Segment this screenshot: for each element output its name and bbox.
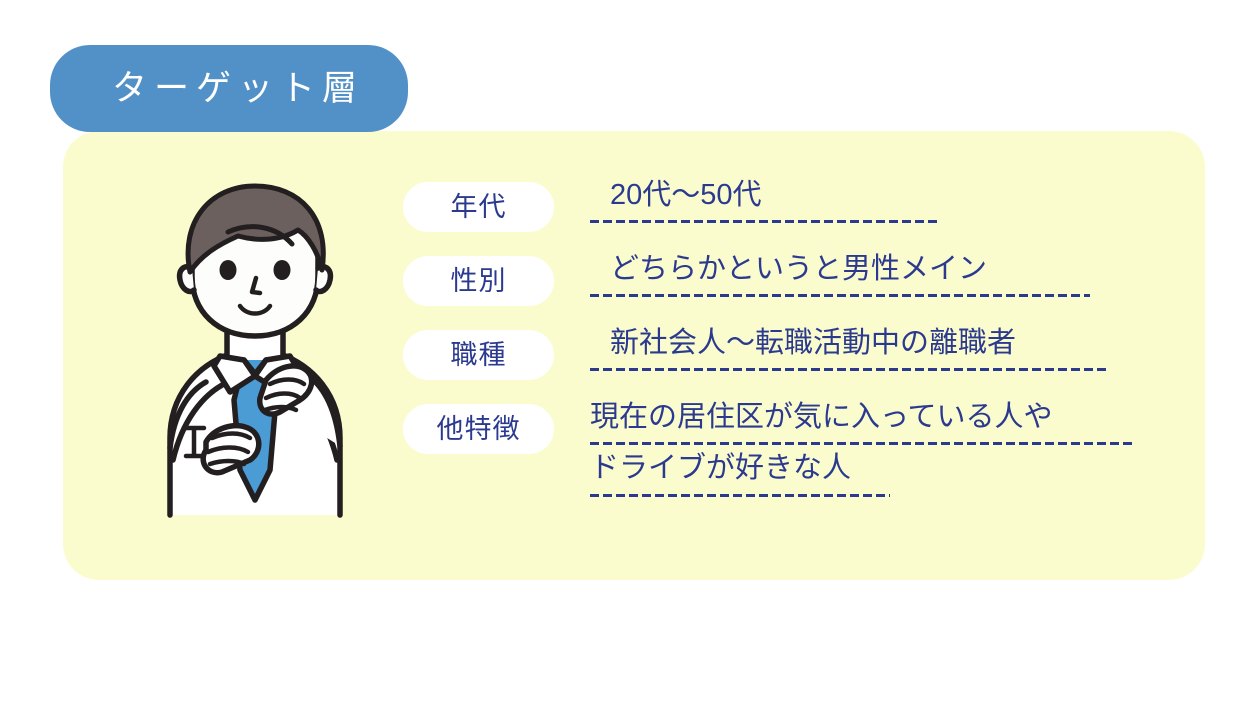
dashed-underline [590, 294, 1090, 297]
value-line: 20代〜50代 [590, 176, 1165, 223]
value-line: ドライブが好きな人 [590, 449, 1165, 496]
value-line: 現在の居住区が気に入っている人や [590, 398, 1165, 445]
value-text: ドライブが好きな人 [590, 449, 851, 487]
section-header-badge: ターゲット層 [50, 45, 408, 132]
attribute-label: 性別 [451, 268, 507, 295]
attribute-label: 他特徴 [437, 416, 521, 443]
value-line: どちらかというと男性メイン [590, 250, 1165, 297]
attribute-table: 年代 20代〜50代 性別 どちらかというと男性メイン [403, 182, 1163, 478]
attribute-values: どちらかというと男性メイン [590, 250, 1165, 301]
attribute-label: 職種 [451, 342, 507, 369]
attribute-label-pill: 職種 [403, 330, 554, 380]
dashed-underline [590, 494, 890, 497]
attribute-values: 新社会人〜転職活動中の離職者 [590, 324, 1165, 375]
value-line: 新社会人〜転職活動中の離職者 [590, 324, 1165, 371]
table-row: 職種 新社会人〜転職活動中の離職者 [403, 330, 1163, 404]
table-row: 他特徴 現在の居住区が気に入っている人や ドライブが好きな人 [403, 404, 1163, 478]
section-header-label: ターゲット層 [50, 71, 364, 106]
table-row: 年代 20代〜50代 [403, 182, 1163, 256]
value-text: どちらかというと男性メイン [590, 250, 987, 288]
value-text: 現在の居住区が気に入っている人や [590, 398, 1053, 436]
dashed-underline [590, 368, 1110, 371]
slide-canvas: ターゲット層 [0, 0, 1250, 703]
value-text: 20代〜50代 [590, 176, 762, 214]
attribute-label-pill: 他特徴 [403, 404, 554, 454]
dashed-underline [590, 442, 1135, 445]
attribute-values: 現在の居住区が気に入っている人や ドライブが好きな人 [590, 398, 1165, 501]
value-text: 新社会人〜転職活動中の離職者 [590, 324, 1016, 362]
businessman-illustration [110, 160, 400, 520]
attribute-label: 年代 [451, 194, 507, 221]
attribute-label-pill: 年代 [403, 182, 554, 232]
dashed-underline [590, 220, 940, 223]
attribute-label-pill: 性別 [403, 256, 554, 306]
attribute-values: 20代〜50代 [590, 176, 1165, 227]
table-row: 性別 どちらかというと男性メイン [403, 256, 1163, 330]
